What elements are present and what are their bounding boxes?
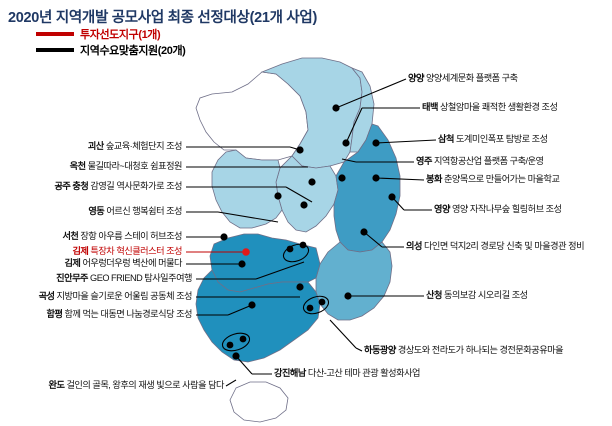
leader-line-hadong-2: [356, 348, 362, 351]
callout-gimje-cluster: 김제 특장차 혁신클러스터 조성: [72, 246, 182, 257]
callout-jinan-muju: 진안무주 GEO FRIEND 탐사일주여행: [56, 273, 192, 284]
callout-region-gokseong: 곡성: [39, 291, 55, 301]
dot-gimje-a: [242, 248, 250, 256]
dot-jinan: [287, 246, 294, 253]
dot-yangyang: [332, 104, 339, 111]
dot-gwangyang: [319, 299, 326, 306]
callout-region-bonghwa: 봉화: [426, 174, 442, 184]
callout-taebaek: 태백 상철암마을 쾌적한 생활환경 조성: [422, 102, 557, 113]
callout-region-hadong-gwangyang: 하동광양: [364, 345, 396, 355]
callout-desc-goesan: 숲교육·체험단지 조성: [106, 141, 182, 151]
region-gyeongnam: [316, 242, 392, 320]
callout-desc-gimje-byeoksan: 어우렁더우렁 벽산에 머물다: [82, 258, 182, 268]
callout-desc-gimje-cluster: 특장차 혁신클러스터 조성: [90, 246, 182, 256]
callout-desc-hadong-gwangyang: 경상도와 전라도가 하나되는 경전문화공유마을: [398, 345, 563, 355]
dot-yeongdong: [300, 201, 307, 208]
callout-yeongdong: 영동 어르신 행복쉼터 조성: [88, 206, 182, 217]
callout-desc-bonghwa: 춘양목으로 만들어가는 마을학교: [444, 174, 559, 184]
callout-gangjin-haenam: 강진해남 다산-고산 테마 관광 활성화사업: [274, 368, 420, 379]
callout-region-uiseong: 의성: [406, 241, 422, 251]
dot-muju: [300, 242, 307, 249]
callout-desc-yeongyang: 영양 자작나무숲 힐링허브 조성: [452, 204, 562, 214]
callout-desc-yeongju: 지역항공산업 플랫폼 구축/운영: [434, 156, 544, 166]
callout-desc-uiseong: 다인면 덕지2리 경로당 신축 및 마을경관 정비: [424, 241, 584, 251]
callout-region-okcheon: 옥천: [70, 161, 86, 171]
callout-region-gimje-cluster: 김제: [72, 246, 88, 256]
dot-hampyeong: [248, 301, 255, 308]
callout-desc-okcheon: 물길따라~대청호 쉼표정원: [88, 161, 182, 171]
callout-desc-gangjin-haenam: 다산-고산 테마 관광 활성화사업: [308, 368, 420, 378]
leader-line-wando: [226, 380, 236, 386]
callout-desc-seocheon: 장항 아우름 스테이 허브조성: [80, 231, 182, 241]
dot-yeongju: [338, 174, 345, 181]
callout-region-sancheong: 산청: [426, 290, 442, 300]
dot-okcheon: [308, 178, 315, 185]
callout-region-seocheon: 서천: [62, 231, 78, 241]
callout-okcheon: 옥천 물길따라~대청호 쉼표정원: [70, 161, 182, 172]
dot-yeongyang: [388, 193, 395, 200]
callout-region-yeongdong: 영동: [88, 206, 104, 216]
dot-gangjin: [227, 342, 234, 349]
callout-gimje-byeoksan: 김제 어우렁더우렁 벽산에 머물다: [64, 258, 182, 269]
infographic-root: 2020년 지역개발 공모사업 최종 선정대상(21개 사업) 투자선도지구(1…: [0, 0, 612, 426]
callout-region-taebaek: 태백: [422, 102, 438, 112]
dot-bonghwa: [372, 174, 379, 181]
dot-gokseong: [296, 283, 303, 290]
callout-gokseong: 곡성 지방마을 슬기로운 어울림 공동체 조성: [39, 291, 192, 302]
dot-samcheok: [372, 139, 379, 146]
region-jeju: [230, 382, 288, 422]
callout-uiseong: 의성 다인면 덕지2리 경로당 신축 및 마을경관 정비: [406, 241, 584, 252]
callout-yangyang: 양양 양양세계문화 플랫폼 구축: [408, 73, 518, 84]
callout-region-yeongyang: 영양: [434, 204, 450, 214]
callout-desc-gongju: 감영길 역사문화가로 조성: [90, 181, 182, 191]
dot-taebaek: [342, 139, 349, 146]
callout-region-gimje-byeoksan: 김제: [64, 258, 80, 268]
callout-region-hampyeong: 함평: [47, 309, 63, 319]
callout-yeongju: 영주 지역항공산업 플랫폼 구축/운영: [416, 156, 544, 167]
callout-gongju: 공주 충청 감영길 역사문화가로 조성: [54, 181, 182, 192]
dot-sancheong: [344, 292, 351, 299]
callout-hampyeong: 함평 함께 먹는 대동면 나눔경로식당 조성: [47, 309, 192, 320]
callout-region-gongju: 공주 충청: [54, 181, 88, 191]
callout-region-gangjin-haenam: 강진해남: [274, 368, 306, 378]
dot-gimje-b: [238, 260, 245, 267]
callout-desc-sancheong: 동의보감 시오리길 조성: [444, 290, 528, 300]
callout-region-goesan: 괴산: [88, 141, 104, 151]
dot-uiseong: [360, 228, 367, 235]
callout-region-yeongju: 영주: [416, 156, 432, 166]
leader-line-hadong: [330, 320, 356, 348]
callout-region-wando: 완도: [49, 380, 65, 390]
callout-wando: 완도 걸인의 골목, 왕후의 재생 빛으로 사람을 담다: [49, 380, 224, 391]
callout-region-jinan-muju: 진안무주: [56, 273, 88, 283]
callout-desc-taebaek: 상철암마을 쾌적한 생활환경 조성: [440, 102, 558, 112]
callout-desc-samcheok: 도계미인폭포 탐방로 조성: [456, 134, 548, 144]
dot-hadong: [307, 305, 314, 312]
dot-wando: [232, 352, 239, 359]
callout-desc-wando: 걸인의 골목, 왕후의 재생 빛으로 사람을 담다: [66, 380, 224, 390]
callout-yeongyang: 영양 영양 자작나무숲 힐링허브 조성: [434, 204, 562, 215]
dot-goesan: [296, 146, 303, 153]
callout-goesan: 괴산 숲교육·체험단지 조성: [88, 141, 182, 152]
callout-hadong-gwangyang: 하동광양 경상도와 전라도가 하나되는 경전문화공유마을: [364, 345, 563, 356]
callout-sancheong: 산청 동의보감 시오리길 조성: [426, 290, 528, 301]
callout-desc-hampyeong: 함께 먹는 대동면 나눔경로식당 조성: [65, 309, 193, 319]
dot-seocheon: [220, 233, 227, 240]
callout-desc-gokseong: 지방마을 슬기로운 어울림 공동체 조성: [57, 291, 192, 301]
callout-desc-jinan-muju: GEO FRIEND 탐사일주여행: [90, 273, 192, 283]
dot-haenam: [240, 336, 247, 343]
callout-samcheok: 삼척 도계미인폭포 탐방로 조성: [438, 134, 548, 145]
callout-desc-yeongdong: 어르신 행복쉼터 조성: [106, 206, 182, 216]
callout-region-samcheok: 삼척: [438, 134, 454, 144]
callout-region-yangyang: 양양: [408, 73, 424, 83]
callout-bonghwa: 봉화 춘양목으로 만들어가는 마을학교: [426, 174, 559, 185]
callout-seocheon: 서천 장항 아우름 스테이 허브조성: [62, 231, 182, 242]
dot-gongju: [274, 192, 281, 199]
callout-desc-yangyang: 양양세계문화 플랫폼 구축: [426, 73, 518, 83]
